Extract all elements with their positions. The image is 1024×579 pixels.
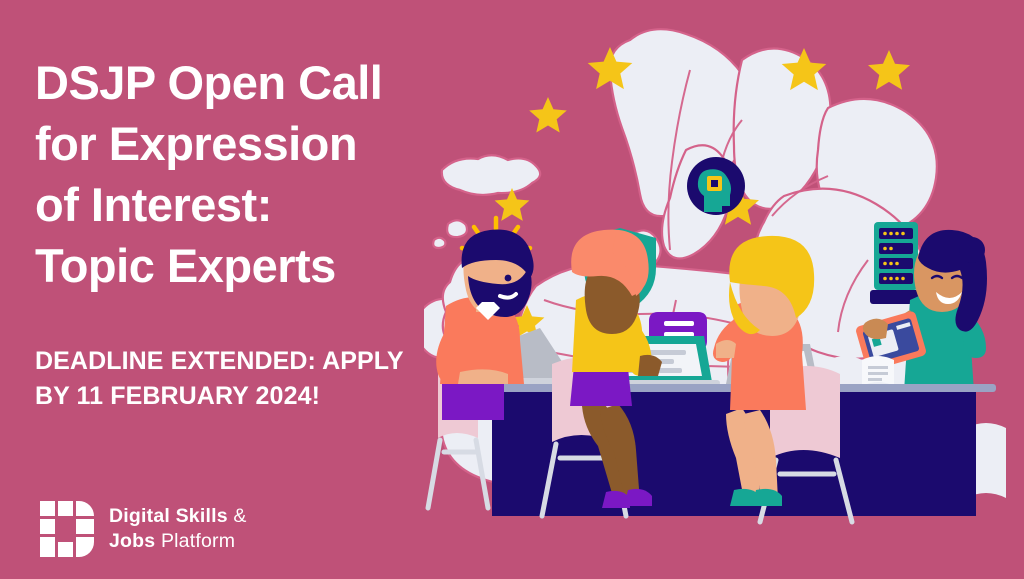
dsjp-logo-mark-icon: [40, 501, 94, 557]
logo-platform: Platform: [155, 530, 235, 552]
star-icon: [868, 50, 910, 90]
logo-line-1: Digital Skills &: [109, 504, 247, 529]
logo-digital-skills: Digital Skills: [109, 505, 228, 527]
logo-jobs: Jobs: [109, 530, 155, 552]
dsjp-open-call-banner: DSJP Open Call for Expression of Interes…: [0, 0, 1024, 579]
dsjp-logo-text: Digital Skills & Jobs Platform: [109, 504, 247, 555]
dsjp-logo[interactable]: Digital Skills & Jobs Platform: [40, 501, 247, 557]
logo-line-2: Jobs Platform: [109, 529, 247, 554]
illustration: [424, 0, 1024, 579]
logo-ampersand: &: [228, 505, 247, 527]
page-title: DSJP Open Call for Expression of Interes…: [35, 52, 465, 296]
server-rack-icon: [870, 222, 922, 304]
text-block: DSJP Open Call for Expression of Interes…: [35, 52, 465, 413]
star-icon: [529, 97, 567, 133]
ai-head-chip-icon: [687, 157, 745, 215]
deadline-subheadline: DEADLINE EXTENDED: APPLY BY 11 FEBRUARY …: [35, 296, 465, 413]
